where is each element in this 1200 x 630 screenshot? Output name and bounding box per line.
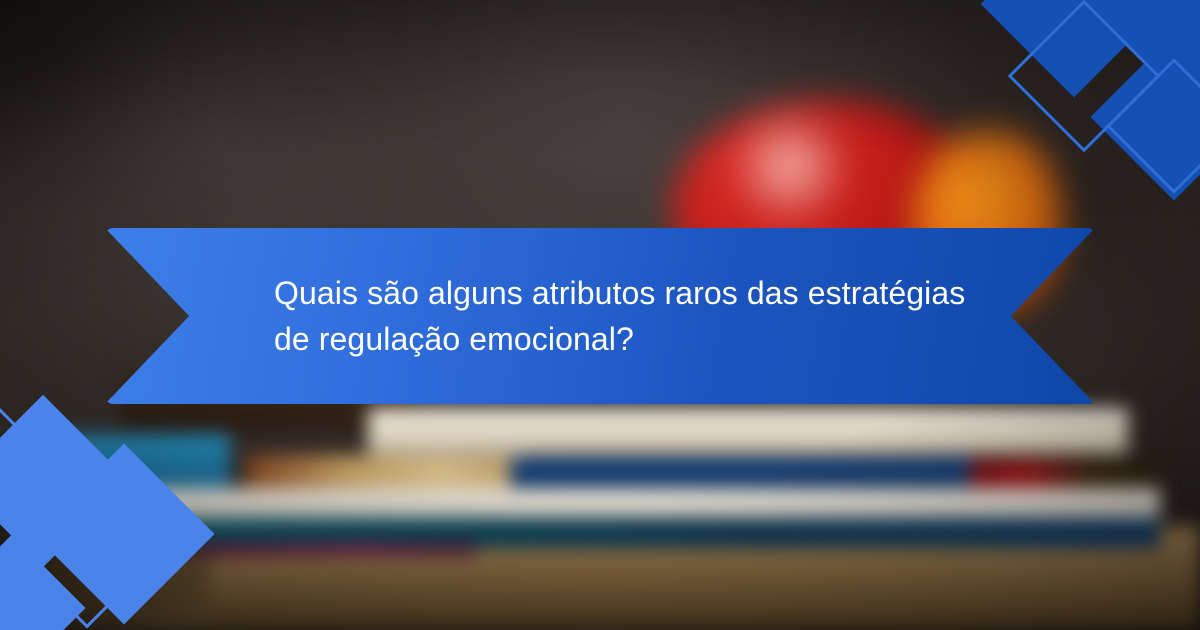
headline-text: Quais são alguns atributos raros das est… — [274, 270, 974, 362]
headline-ribbon: Quais são alguns atributos raros das est… — [105, 228, 1095, 404]
banner-canvas: Quais são alguns atributos raros das est… — [0, 0, 1200, 630]
